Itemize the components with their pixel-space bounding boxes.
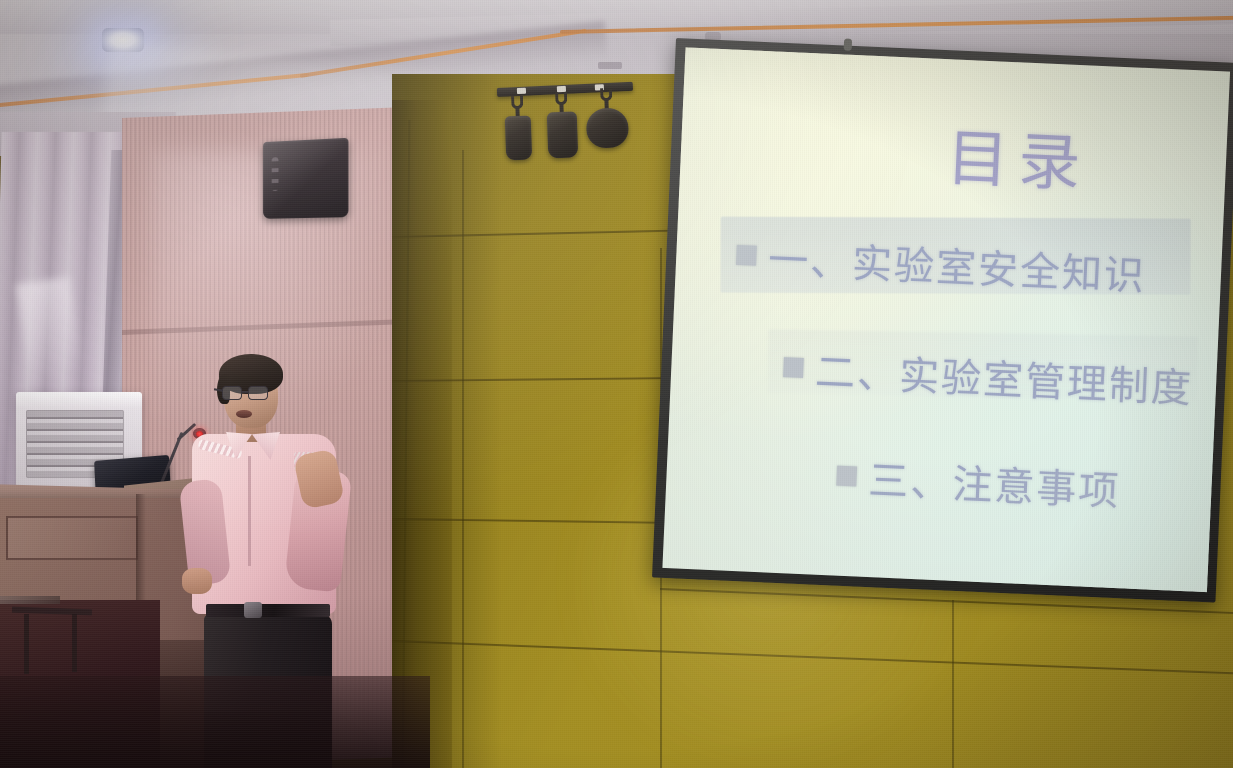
ceiling-light-glow [36,8,226,98]
light-body [586,107,629,148]
wall-panel-seam-vertical [462,150,464,768]
speaker-sheen [263,138,348,219]
stage-light-icon [583,87,631,159]
presentation-slide: 目录 一、实验室安全知识 二、实验室管理制度 三、注意事项 [662,47,1230,592]
screen-mount-bracket [844,38,853,50]
presenter-mouth [236,410,252,418]
track-label [517,88,526,94]
glasses-bridge [242,391,249,393]
bullet-square-icon [836,466,857,487]
presenter-belt [206,604,330,617]
projection-screen: 目录 一、实验室安全知识 二、实验室管理制度 三、注意事项 [652,38,1233,603]
stage-light-icon [542,91,582,164]
bullet-square-icon [736,245,757,266]
slide-bullet-text: 三、注意事项 [867,448,1121,517]
slide-bullet-item: 三、注意事项 [835,447,1121,518]
ceiling-spotlight-icon [102,28,144,52]
lecture-hall-scene: 目录 一、实验室安全知识 二、实验室管理制度 三、注意事项 [0,0,1233,768]
bullet-square-icon [783,357,804,378]
floor-shadow [0,676,430,768]
stage-light-icon [500,95,536,166]
shirt-placket [248,456,251,566]
wall-speaker-icon [263,138,348,219]
equipment-stand-leg [24,614,29,674]
ac-top-sheen [16,392,142,408]
stage-rail [0,596,60,604]
presenter-hand [182,568,212,594]
eyeglasses-icon [222,386,274,401]
glasses-lens-left [222,386,242,400]
light-body [547,111,579,158]
podium-front-panel [6,516,138,560]
glasses-lens-right [248,386,268,400]
light-body [505,116,533,161]
slide-title: 目录 [679,95,1227,209]
screen-surface: 目录 一、实验室安全知识 二、实验室管理制度 三、注意事项 [662,47,1230,592]
equipment-stand-leg [72,614,77,672]
belt-buckle [244,602,262,618]
ceiling-vent [598,62,622,69]
